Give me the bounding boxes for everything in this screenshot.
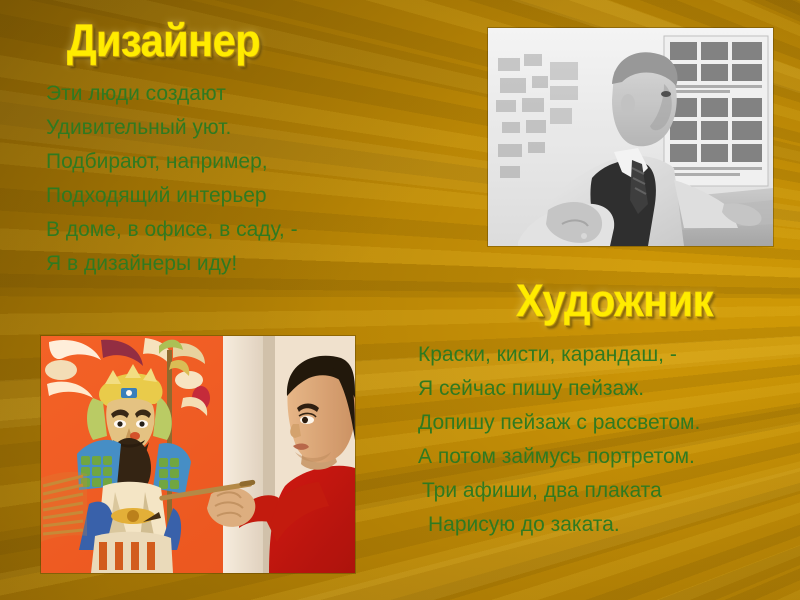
presentation-slide: Дизайнер Эти люди создают Удивительный у… bbox=[0, 0, 800, 600]
poem-line: Эти люди создают bbox=[46, 77, 298, 111]
heading-artist: Художник bbox=[516, 278, 713, 323]
poem-line: В доме, в офисе, в саду, - bbox=[46, 213, 298, 247]
poem-line: Я сейчас пишу пейзаж. bbox=[418, 372, 700, 406]
poem-line: Три афиши, два плаката bbox=[418, 474, 700, 508]
photo-designer-at-desk bbox=[488, 28, 773, 246]
poem-line: Нарисую до заката. bbox=[418, 508, 700, 542]
poem-designer: Эти люди создают Удивительный уют. Подби… bbox=[46, 77, 298, 281]
heading-designer: Дизайнер bbox=[67, 18, 260, 63]
poem-line: Удивительный уют. bbox=[46, 111, 298, 145]
poem-line: Подбирают, например, bbox=[46, 145, 298, 179]
poem-line: Допишу пейзаж с рассветом. bbox=[418, 406, 700, 440]
photo-artist-painting bbox=[41, 336, 355, 573]
poem-line: А потом займусь портретом. bbox=[418, 440, 700, 474]
poem-artist: Краски, кисти, карандаш, - Я сейчас пишу… bbox=[418, 338, 700, 542]
poem-line: Я в дизайнеры иду! bbox=[46, 247, 298, 281]
poem-line: Подходящий интерьер bbox=[46, 179, 298, 213]
poem-line: Краски, кисти, карандаш, - bbox=[418, 338, 700, 372]
